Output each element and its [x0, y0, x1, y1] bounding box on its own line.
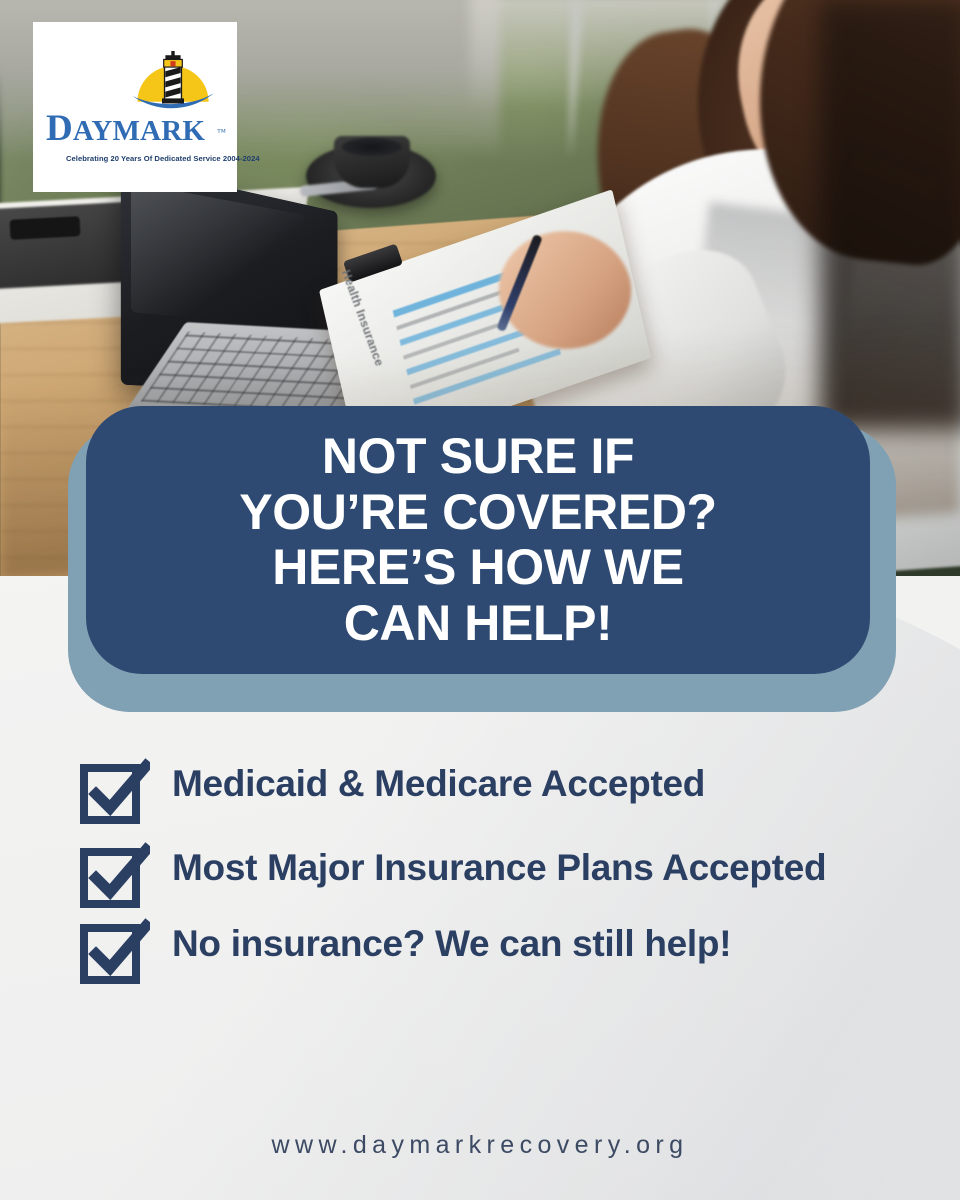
- checked-checkbox-icon: [78, 842, 150, 914]
- list-item-label: Most Major Insurance Plans Accepted: [172, 840, 826, 890]
- checked-checkbox-icon: [78, 758, 150, 830]
- logo-tagline: Celebrating 20 Years Of Dedicated Servic…: [66, 154, 260, 163]
- photo-clipboard-left-clip: [10, 216, 81, 240]
- headline-line-4: CAN HELP!: [344, 595, 613, 651]
- logo-wordmark: DAYMARK: [46, 110, 205, 147]
- list-item-label: No insurance? We can still help!: [172, 916, 731, 966]
- headline-banner-group: NOT SURE IF YOU’RE COVERED? HERE’S HOW W…: [0, 398, 960, 718]
- logo-trademark: ™: [217, 127, 226, 137]
- list-item: Medicaid & Medicare Accepted: [78, 756, 908, 830]
- page-title: NOT SURE IF YOU’RE COVERED? HERE’S HOW W…: [213, 429, 742, 651]
- photo-coffee-surface: [342, 138, 402, 156]
- headline-line-1: NOT SURE IF: [322, 428, 634, 484]
- logo-wordmark-rest: AYMARK: [73, 115, 205, 147]
- daymark-logo-card: DAYMARK ™ Celebrating 20 Years Of Dedica…: [33, 22, 237, 192]
- website-url[interactable]: www.daymarkrecovery.org: [0, 1131, 960, 1160]
- insurance-promo-poster: Health Insurance DAYMARK ™ Celeb: [0, 0, 960, 1200]
- checked-checkbox-icon: [78, 918, 150, 990]
- benefits-checklist: Medicaid & Medicare Accepted Most Major …: [78, 756, 908, 1000]
- list-item-label: Medicaid & Medicare Accepted: [172, 756, 705, 806]
- headline-line-2: YOU’RE COVERED?: [239, 484, 716, 540]
- logo-wordmark-initial: D: [46, 108, 73, 149]
- headline-banner: NOT SURE IF YOU’RE COVERED? HERE’S HOW W…: [86, 406, 870, 674]
- headline-line-3: HERE’S HOW WE: [272, 539, 683, 595]
- list-item: No insurance? We can still help!: [78, 916, 908, 990]
- list-item: Most Major Insurance Plans Accepted: [78, 840, 908, 914]
- lighthouse-icon: [130, 51, 216, 117]
